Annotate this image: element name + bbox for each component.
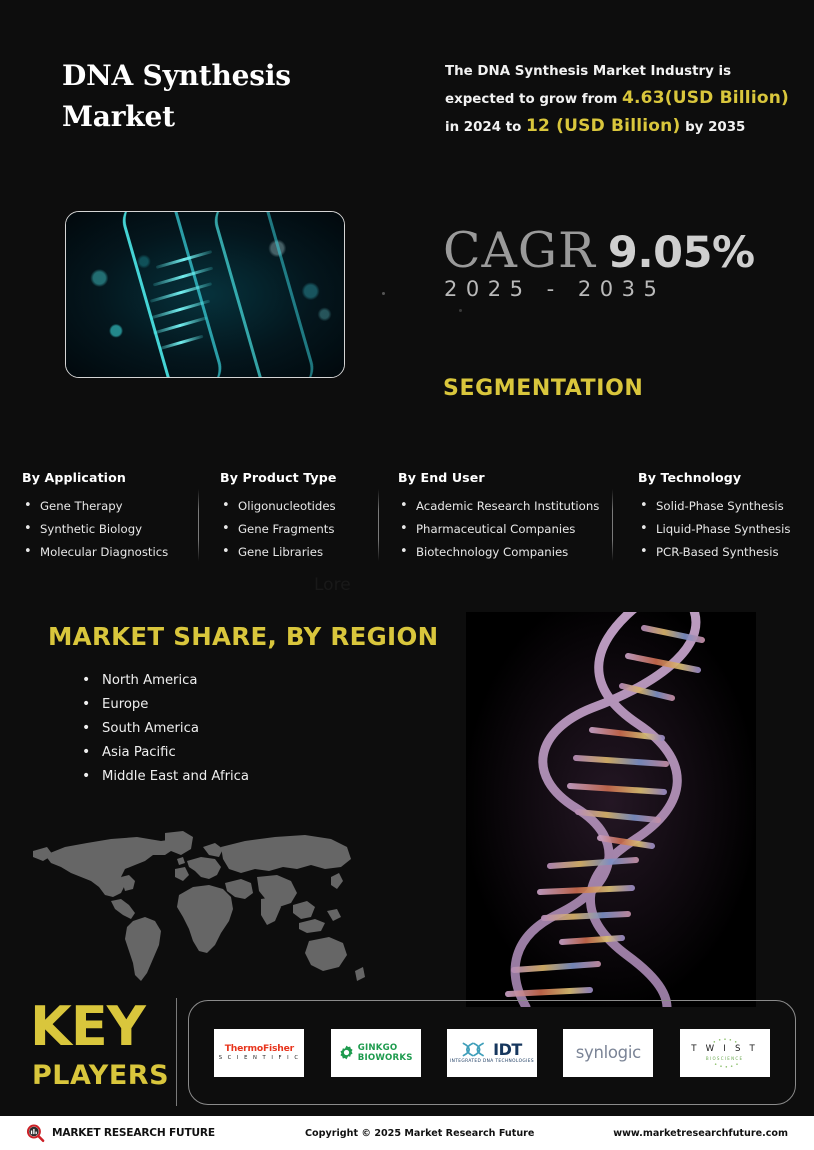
intro-part-3: by 2035	[680, 120, 745, 135]
logo-twist-bioscience[interactable]: T W I S T BIOSCIENCE	[680, 1029, 770, 1077]
key-players-logo-row: ThermoFisher S C I E N T I F I C GINKGO …	[188, 1000, 796, 1105]
list-item: North America	[80, 669, 249, 693]
segmentation-column-technology: By Technology Solid-Phase Synthesis Liqu…	[638, 470, 792, 564]
logo-text-primary: GINKGO	[358, 1043, 413, 1053]
logo-content: GINKGO BIOWORKS	[339, 1043, 413, 1063]
cagr-block: CAGR9.05%	[443, 222, 755, 279]
key-players-title-players: PLAYERS	[32, 1061, 169, 1091]
logo-text-block: GINKGO BIOWORKS	[358, 1043, 413, 1063]
segmentation-column-application: By Application Gene Therapy Synthetic Bi…	[22, 470, 220, 564]
twist-dots-bottom-icon	[705, 1062, 745, 1069]
value-2024: 4.63(USD Billion)	[622, 88, 789, 108]
logo-text-secondary: BIOSCIENCE	[706, 1055, 743, 1062]
logo-text-secondary: INTEGRATED DNA TECHNOLOGIES	[450, 1058, 534, 1065]
list-item: Europe	[80, 693, 249, 717]
list-item: Biotechnology Companies	[398, 541, 638, 564]
logo-idt-integrated-dna-technologies[interactable]: IDT INTEGRATED DNA TECHNOLOGIES	[447, 1029, 537, 1077]
list-item: Pharmaceutical Companies	[398, 518, 638, 541]
page-title: DNA Synthesis Market	[62, 55, 402, 137]
market-share-title: MARKET SHARE, BY REGION	[48, 622, 438, 651]
list-item: Academic Research Institutions	[398, 495, 638, 518]
segmentation-title: SEGMENTATION	[443, 376, 643, 401]
logo-ginkgo-bioworks[interactable]: GINKGO BIOWORKS	[331, 1029, 421, 1077]
logo-text-primary: IDT	[493, 1041, 522, 1058]
background-artifact-text: Lore	[314, 575, 351, 595]
dna-helix-svg	[466, 612, 756, 1007]
segmentation-header: By Technology	[638, 470, 792, 485]
market-intro-text: The DNA Synthesis Market Industry is exp…	[445, 58, 795, 141]
list-item: Oligonucleotides	[220, 495, 398, 518]
logo-thermo-fisher-scientific[interactable]: ThermoFisher S C I E N T I F I C	[214, 1029, 304, 1077]
segmentation-list: Solid-Phase Synthesis Liquid-Phase Synth…	[638, 495, 792, 564]
footer-brand: MARKET RESEARCH FUTURE	[26, 1124, 215, 1143]
key-players-divider	[176, 998, 177, 1106]
logo-content: IDT	[462, 1041, 522, 1058]
decorative-dot	[382, 292, 385, 295]
market-share-region-list: North America Europe South America Asia …	[80, 669, 249, 789]
logo-text-primary: T W I S T	[691, 1044, 758, 1055]
list-item: Gene Libraries	[220, 541, 398, 564]
infographic-page: DNA Synthesis Market The DNA Synthesis M…	[0, 0, 814, 1150]
idt-dna-icon	[462, 1041, 492, 1058]
world-map-graphic	[25, 825, 385, 1005]
decorative-dot	[459, 309, 462, 312]
intro-part-2: in 2024 to	[445, 120, 526, 135]
segmentation-list: Oligonucleotides Gene Fragments Gene Lib…	[220, 495, 398, 564]
logo-text-primary: ThermoFisher	[225, 1044, 294, 1054]
magnifier-chart-logo-icon	[26, 1124, 45, 1143]
list-item: Molecular Diagnostics	[22, 541, 220, 564]
logo-synlogic[interactable]: synlogic	[563, 1029, 653, 1077]
list-item: Middle East and Africa	[80, 765, 249, 789]
key-players-title-key: KEY	[30, 1000, 145, 1054]
segmentation-list: Gene Therapy Synthetic Biology Molecular…	[22, 495, 220, 564]
footer-url[interactable]: www.marketresearchfuture.com	[613, 1128, 788, 1139]
value-2035: 12 (USD Billion)	[526, 116, 680, 136]
logo-text-secondary: BIOWORKS	[358, 1053, 413, 1063]
dna-helix-image-cyan	[65, 211, 345, 378]
logo-text-secondary: S C I E N T I F I C	[219, 1054, 300, 1062]
segmentation-columns: By Application Gene Therapy Synthetic Bi…	[22, 470, 792, 564]
cagr-period: 2025 - 2035	[444, 277, 665, 301]
dna-helix-image-purple	[466, 612, 756, 1007]
cagr-label: CAGR	[443, 222, 596, 279]
segmentation-header: By End User	[398, 470, 638, 485]
list-item: Asia Pacific	[80, 741, 249, 765]
twist-dots-top-icon	[705, 1037, 745, 1044]
list-item: Solid-Phase Synthesis	[638, 495, 792, 518]
cagr-value: 9.05%	[608, 228, 755, 278]
ginkgo-gear-icon	[339, 1045, 354, 1060]
segmentation-list: Academic Research Institutions Pharmaceu…	[398, 495, 638, 564]
footer-copyright: Copyright © 2025 Market Research Future	[305, 1128, 534, 1139]
segmentation-column-product-type: By Product Type Oligonucleotides Gene Fr…	[220, 470, 398, 564]
footer-brand-text: MARKET RESEARCH FUTURE	[52, 1127, 215, 1139]
footer-bar: MARKET RESEARCH FUTURE Copyright © 2025 …	[0, 1116, 814, 1150]
logo-text-primary: synlogic	[576, 1043, 641, 1062]
list-item: South America	[80, 717, 249, 741]
list-item: Gene Fragments	[220, 518, 398, 541]
segmentation-column-end-user: By End User Academic Research Institutio…	[398, 470, 638, 564]
list-item: Synthetic Biology	[22, 518, 220, 541]
list-item: PCR-Based Synthesis	[638, 541, 792, 564]
segmentation-header: By Product Type	[220, 470, 398, 485]
segmentation-header: By Application	[22, 470, 220, 485]
list-item: Gene Therapy	[22, 495, 220, 518]
list-item: Liquid-Phase Synthesis	[638, 518, 792, 541]
